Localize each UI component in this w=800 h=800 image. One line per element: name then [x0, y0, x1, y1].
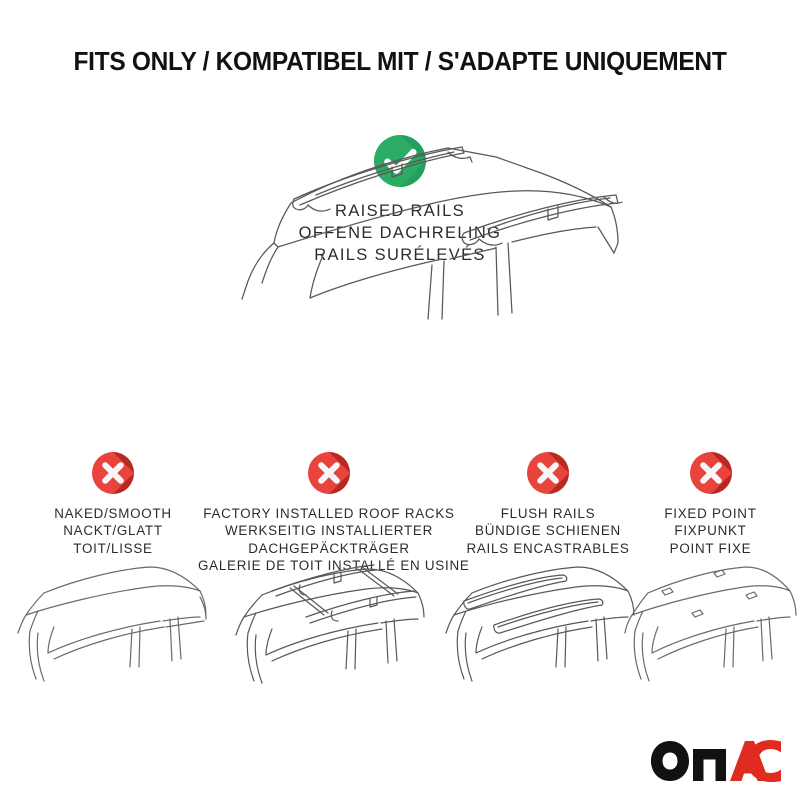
incompatible-labels: FIXED POINT FIXPUNKT POINT FIXE: [628, 505, 793, 557]
incompatible-label-de-1: WERKSEITIG INSTALLIERTER: [198, 522, 460, 539]
incompatible-item-fixed-point: FIXED POINT FIXPUNKT POINT FIXE: [628, 452, 793, 557]
incompatible-label-de: NACKT/GLATT: [13, 522, 213, 539]
header: FITS ONLY / KOMPATIBEL MIT / S'ADAPTE UN…: [0, 48, 800, 77]
logo-letter-o: [651, 741, 689, 781]
car-roof-flush-rails-drawing: [438, 555, 643, 695]
incompatible-labels: NAKED/SMOOTH NACKT/GLATT TOIT/LISSE: [13, 505, 213, 557]
incompatible-label-en: FIXED POINT: [628, 505, 793, 522]
incompatible-label-en: NAKED/SMOOTH: [13, 505, 213, 522]
car-roof-raised-rails-drawing: [196, 143, 626, 323]
car-roof-fixed-point-drawing: [618, 555, 800, 695]
cross-circle-icon: [92, 452, 134, 494]
car-roof-factory-rack-drawing: [228, 555, 440, 695]
car-roof-naked-smooth-drawing: [8, 555, 213, 695]
incompatible-label-de: FIXPUNKT: [628, 522, 793, 539]
page-title: FITS ONLY / KOMPATIBEL MIT / S'ADAPTE UN…: [16, 48, 784, 77]
logo-letter-m: [693, 749, 726, 781]
incompatible-label-en: FACTORY INSTALLED ROOF RACKS: [198, 505, 460, 522]
incompatible-labels: FLUSH RAILS BÜNDIGE SCHIENEN RAILS ENCAS…: [448, 505, 648, 557]
omac-logo: [650, 740, 782, 782]
incompatible-row: NAKED/SMOOTH NACKT/GLATT TOIT/LISSE FACT…: [0, 452, 800, 572]
cross-circle-icon: [527, 452, 569, 494]
cross-circle-icon: [308, 452, 350, 494]
incompatible-item-flush-rails: FLUSH RAILS BÜNDIGE SCHIENEN RAILS ENCAS…: [448, 452, 648, 557]
incompatible-item-naked-smooth: NAKED/SMOOTH NACKT/GLATT TOIT/LISSE: [13, 452, 213, 557]
incompatible-label-de: BÜNDIGE SCHIENEN: [448, 522, 648, 539]
cross-circle-icon: [690, 452, 732, 494]
incompatible-label-en: FLUSH RAILS: [448, 505, 648, 522]
